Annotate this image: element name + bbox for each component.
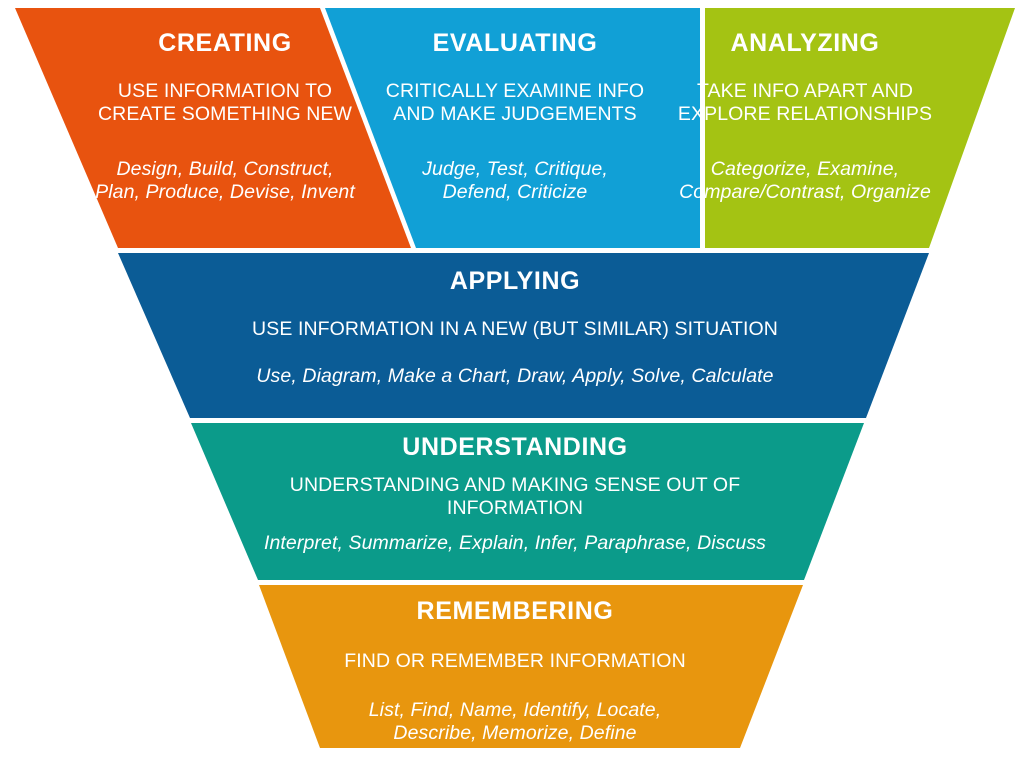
- blooms-taxonomy-diagram: CREATING USE INFORMATION TO CREATE SOMET…: [0, 0, 1030, 760]
- remembering-shape[interactable]: [259, 585, 803, 748]
- funnel-shapes: [0, 0, 1030, 760]
- understanding-shape[interactable]: [191, 423, 864, 580]
- applying-shape[interactable]: [118, 253, 929, 418]
- analyzing-shape[interactable]: [705, 8, 1015, 248]
